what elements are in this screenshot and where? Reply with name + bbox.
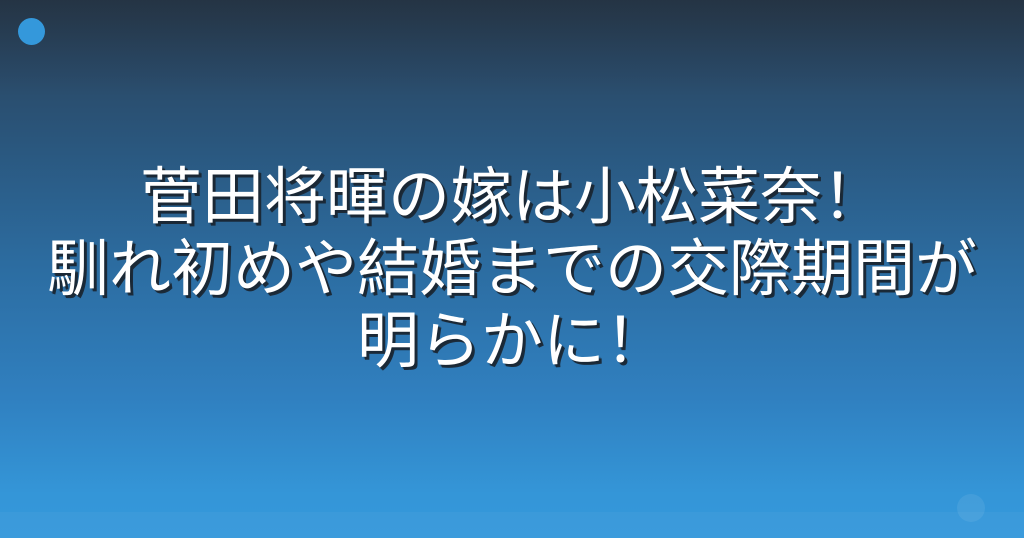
title-slide: 菅田将暉の嫁は小松菜奈！ 馴れ初めや結婚までの交際期間が 明らかに！ xyxy=(0,0,1024,538)
headline-container: 菅田将暉の嫁は小松菜奈！ 馴れ初めや結婚までの交際期間が 明らかに！ xyxy=(0,0,1024,538)
page-title: 菅田将暉の嫁は小松菜奈！ 馴れ初めや結婚までの交際期間が 明らかに！ xyxy=(32,161,992,377)
decorative-dot-bottom-right-icon xyxy=(957,494,985,522)
